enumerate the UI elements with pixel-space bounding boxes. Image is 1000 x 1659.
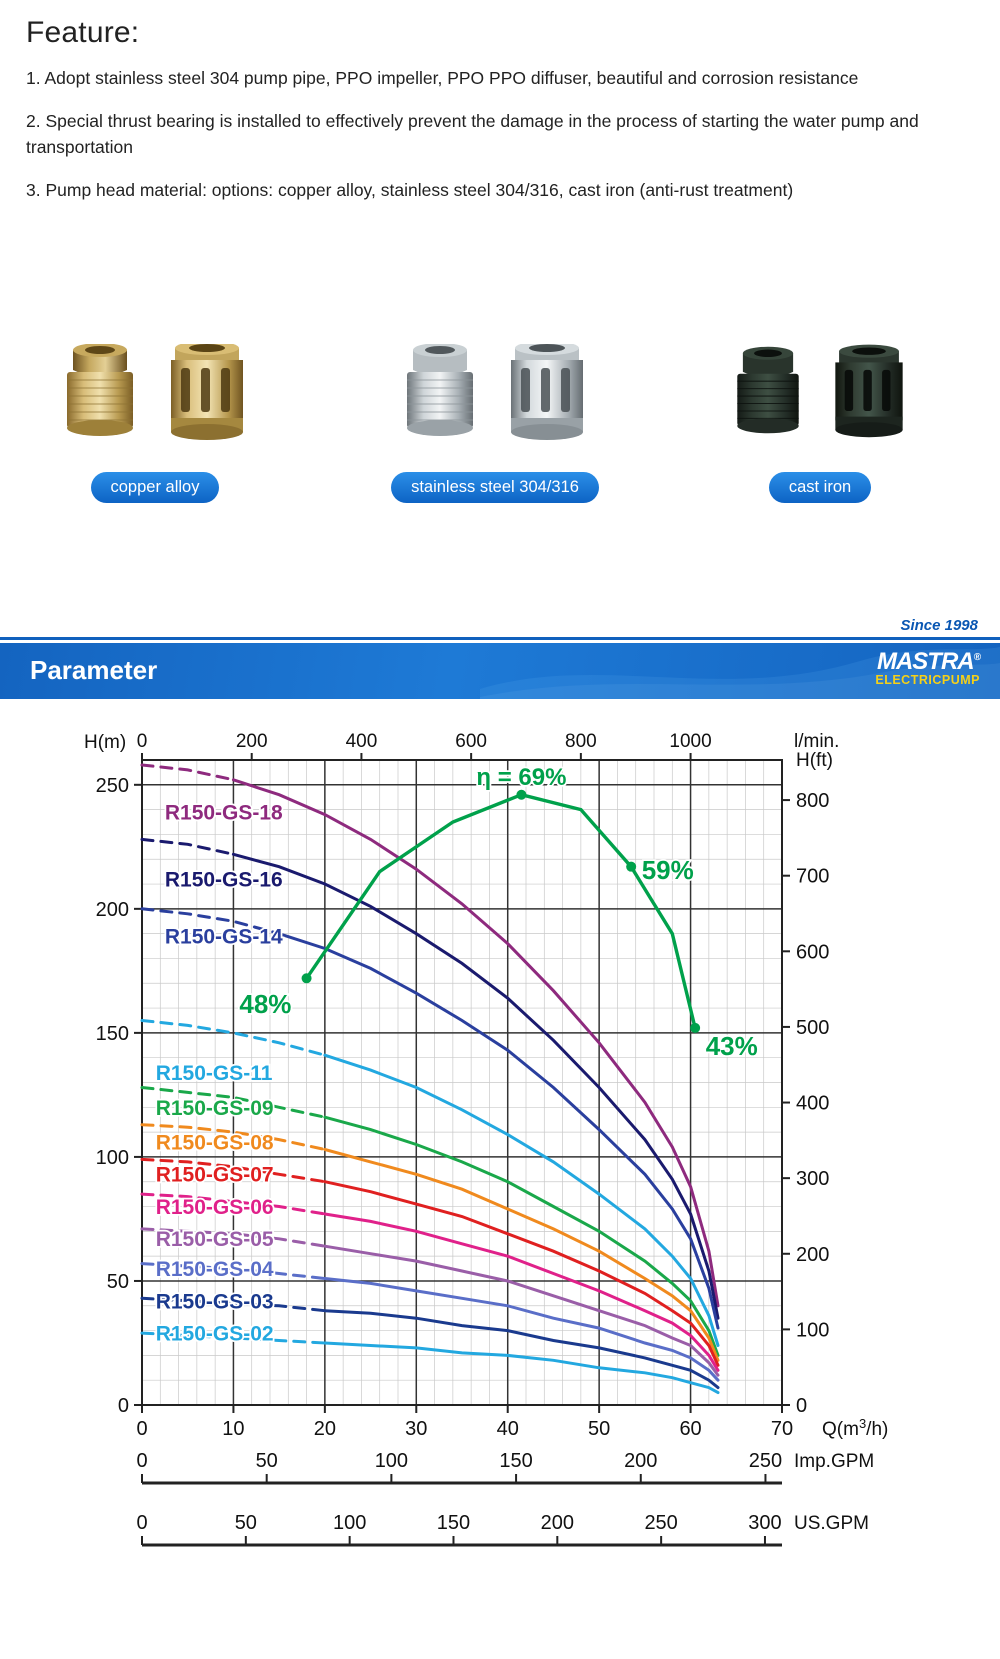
svg-text:R150-GS-14: R150-GS-14 bbox=[165, 926, 283, 949]
feature-section: Feature: 1. Adopt stainless steel 304 pu… bbox=[26, 16, 938, 222]
svg-text:R150-GS-08: R150-GS-08 bbox=[156, 1131, 274, 1154]
svg-text:59%: 59% bbox=[642, 855, 694, 885]
photo-caption-stainless-steel: stainless steel 304/316 bbox=[391, 472, 599, 503]
svg-text:R150-GS-07: R150-GS-07 bbox=[156, 1164, 274, 1187]
svg-text:0: 0 bbox=[136, 1512, 147, 1534]
svg-text:R150-GS-04: R150-GS-04 bbox=[156, 1258, 274, 1281]
logo-wordmark-text: MASTRA bbox=[877, 648, 974, 675]
svg-text:l/min.: l/min. bbox=[794, 731, 839, 752]
svg-text:30: 30 bbox=[405, 1418, 427, 1440]
axis-bottom-us-gpm: 050100150200250300US.GPM bbox=[136, 1512, 869, 1545]
svg-text:R150-GS-02: R150-GS-02 bbox=[156, 1323, 274, 1346]
svg-text:250: 250 bbox=[96, 775, 129, 797]
svg-text:R150-GS-06: R150-GS-06 bbox=[156, 1196, 274, 1219]
svg-text:R150-GS-11: R150-GS-11 bbox=[156, 1062, 273, 1085]
axis-bottom-q-m3h: 010203040506070Q(m3/h) bbox=[136, 1405, 888, 1440]
stainless-diffuser-image bbox=[501, 344, 593, 450]
svg-text:H(m): H(m) bbox=[84, 732, 126, 753]
photo-group-copper-alloy: copper alloy bbox=[40, 340, 270, 503]
feature-item-3: 3. Pump head material: options: copper a… bbox=[26, 178, 938, 203]
svg-text:1000: 1000 bbox=[669, 731, 711, 752]
svg-text:200: 200 bbox=[541, 1512, 574, 1534]
cast-iron-diffuser-image bbox=[826, 344, 912, 450]
svg-text:500: 500 bbox=[796, 1017, 829, 1039]
svg-text:0: 0 bbox=[118, 1395, 129, 1417]
svg-text:800: 800 bbox=[565, 731, 597, 752]
svg-text:200: 200 bbox=[624, 1450, 657, 1472]
photo-caption-copper-alloy: copper alloy bbox=[91, 472, 220, 503]
curve-labels: R150-GS-18R150-GS-16R150-GS-14R150-GS-11… bbox=[156, 802, 283, 1346]
svg-text:250: 250 bbox=[749, 1450, 782, 1472]
product-photo-row: copper alloy bbox=[0, 340, 1000, 525]
svg-text:0: 0 bbox=[796, 1395, 807, 1417]
copper-alloy-parts bbox=[40, 340, 270, 450]
axis-left-head-m: H(m)050100150200250 bbox=[84, 732, 142, 1417]
logo-subtitle: ELECTRICPUMP bbox=[875, 674, 980, 687]
cast-iron-coupling-image bbox=[728, 344, 808, 450]
registered-trademark-icon: ® bbox=[974, 652, 980, 663]
svg-text:300: 300 bbox=[796, 1168, 829, 1190]
svg-text:48%: 48% bbox=[239, 989, 291, 1019]
feature-title: Feature: bbox=[26, 16, 938, 50]
svg-text:R150-GS-18: R150-GS-18 bbox=[165, 802, 283, 825]
svg-text:150: 150 bbox=[499, 1450, 532, 1472]
svg-text:100: 100 bbox=[96, 1147, 129, 1169]
svg-text:Imp.GPM: Imp.GPM bbox=[794, 1451, 874, 1472]
cast-iron-parts bbox=[720, 340, 920, 450]
svg-text:R150-GS-09: R150-GS-09 bbox=[156, 1097, 274, 1120]
svg-text:20: 20 bbox=[314, 1418, 336, 1440]
svg-text:200: 200 bbox=[236, 731, 268, 752]
svg-text:100: 100 bbox=[333, 1512, 366, 1534]
svg-text:US.GPM: US.GPM bbox=[794, 1513, 869, 1534]
brand-logo: MASTRA® ELECTRICPUMP bbox=[875, 650, 980, 687]
axis-right-head-ft: H(ft)0100200300400500600700800 bbox=[782, 750, 833, 1417]
parameter-banner: Parameter MASTRA® ELECTRICPUMP bbox=[0, 643, 1000, 699]
copper-alloy-coupling-image bbox=[57, 344, 143, 450]
svg-text:10: 10 bbox=[222, 1418, 244, 1440]
svg-text:50: 50 bbox=[256, 1450, 278, 1472]
stainless-steel-parts bbox=[350, 340, 640, 450]
since-label: Since 1998 bbox=[900, 617, 978, 634]
svg-text:600: 600 bbox=[796, 941, 829, 963]
svg-text:0: 0 bbox=[136, 1418, 147, 1440]
photo-caption-cast-iron: cast iron bbox=[769, 472, 871, 503]
svg-text:70: 70 bbox=[771, 1418, 793, 1440]
svg-text:700: 700 bbox=[796, 866, 829, 888]
feature-item-1: 1. Adopt stainless steel 304 pump pipe, … bbox=[26, 66, 938, 91]
copper-alloy-diffuser-image bbox=[161, 344, 253, 450]
pump-curve-svg: 02004006008001000l/min.H(m)0501001502002… bbox=[0, 700, 1000, 1580]
svg-text:R150-GS-05: R150-GS-05 bbox=[156, 1228, 274, 1251]
svg-text:Q(m3/h): Q(m3/h) bbox=[822, 1416, 888, 1440]
axis-bottom-imp-gpm: 050100150200250Imp.GPM bbox=[136, 1450, 874, 1483]
svg-text:200: 200 bbox=[796, 1244, 829, 1266]
svg-text:R150-GS-03: R150-GS-03 bbox=[156, 1290, 274, 1313]
svg-text:150: 150 bbox=[437, 1512, 470, 1534]
svg-text:250: 250 bbox=[644, 1512, 677, 1534]
svg-text:50: 50 bbox=[588, 1418, 610, 1440]
axis-top-lpm: 02004006008001000l/min. bbox=[137, 731, 840, 760]
svg-text:100: 100 bbox=[796, 1319, 829, 1341]
svg-text:400: 400 bbox=[346, 731, 378, 752]
svg-text:600: 600 bbox=[455, 731, 487, 752]
svg-text:100: 100 bbox=[375, 1450, 408, 1472]
svg-text:50: 50 bbox=[235, 1512, 257, 1534]
svg-text:400: 400 bbox=[796, 1093, 829, 1115]
svg-text:R150-GS-16: R150-GS-16 bbox=[165, 869, 283, 892]
divider-line bbox=[0, 637, 1000, 640]
performance-chart: 02004006008001000l/min.H(m)0501001502002… bbox=[0, 700, 1000, 1580]
svg-text:300: 300 bbox=[748, 1512, 781, 1534]
page-title: Parameter bbox=[30, 655, 157, 686]
stainless-coupling-image bbox=[397, 344, 483, 450]
svg-text:800: 800 bbox=[796, 790, 829, 812]
feature-item-2: 2. Special thrust bearing is installed t… bbox=[26, 109, 938, 160]
logo-wordmark: MASTRA® bbox=[875, 650, 980, 674]
svg-text:40: 40 bbox=[497, 1418, 519, 1440]
svg-text:H(ft): H(ft) bbox=[796, 750, 833, 771]
svg-text:50: 50 bbox=[107, 1271, 129, 1293]
photo-group-stainless-steel: stainless steel 304/316 bbox=[350, 340, 640, 503]
svg-text:η = 69%: η = 69% bbox=[476, 764, 566, 791]
svg-text:60: 60 bbox=[679, 1418, 701, 1440]
svg-text:200: 200 bbox=[96, 899, 129, 921]
svg-text:150: 150 bbox=[96, 1023, 129, 1045]
photo-group-cast-iron: cast iron bbox=[720, 340, 920, 503]
svg-text:0: 0 bbox=[136, 1450, 147, 1472]
svg-text:0: 0 bbox=[137, 731, 148, 752]
svg-text:43%: 43% bbox=[706, 1031, 758, 1061]
